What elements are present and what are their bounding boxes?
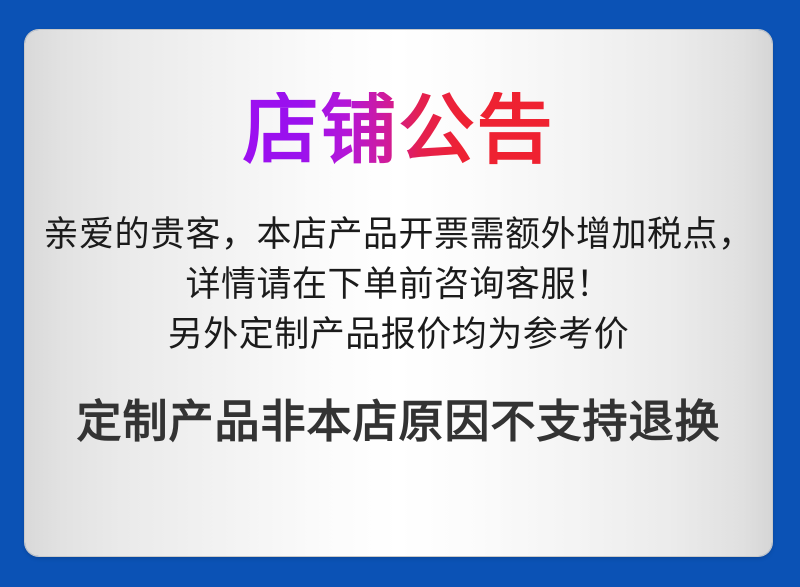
page-title: 店铺公告 (243, 92, 555, 168)
announcement-body-line-1: 亲爱的贵客，本店产品开票需额外增加税点， (25, 210, 772, 260)
announcement-card: 店铺公告 亲爱的贵客，本店产品开票需额外增加税点， 详情请在下单前咨询客服！ 另… (25, 30, 772, 556)
announcement-emphasis-note: 定制产品非本店原因不支持退换 (25, 396, 772, 448)
announcement-body-line-2: 详情请在下单前咨询客服！ (25, 260, 772, 310)
announcement-body: 亲爱的贵客，本店产品开票需额外增加税点， 详情请在下单前咨询客服！ 另外定制产品… (25, 210, 772, 360)
announcement-frame: 店铺公告 亲爱的贵客，本店产品开票需额外增加税点， 详情请在下单前咨询客服！ 另… (0, 0, 800, 587)
announcement-body-line-3: 另外定制产品报价均为参考价 (25, 310, 772, 360)
